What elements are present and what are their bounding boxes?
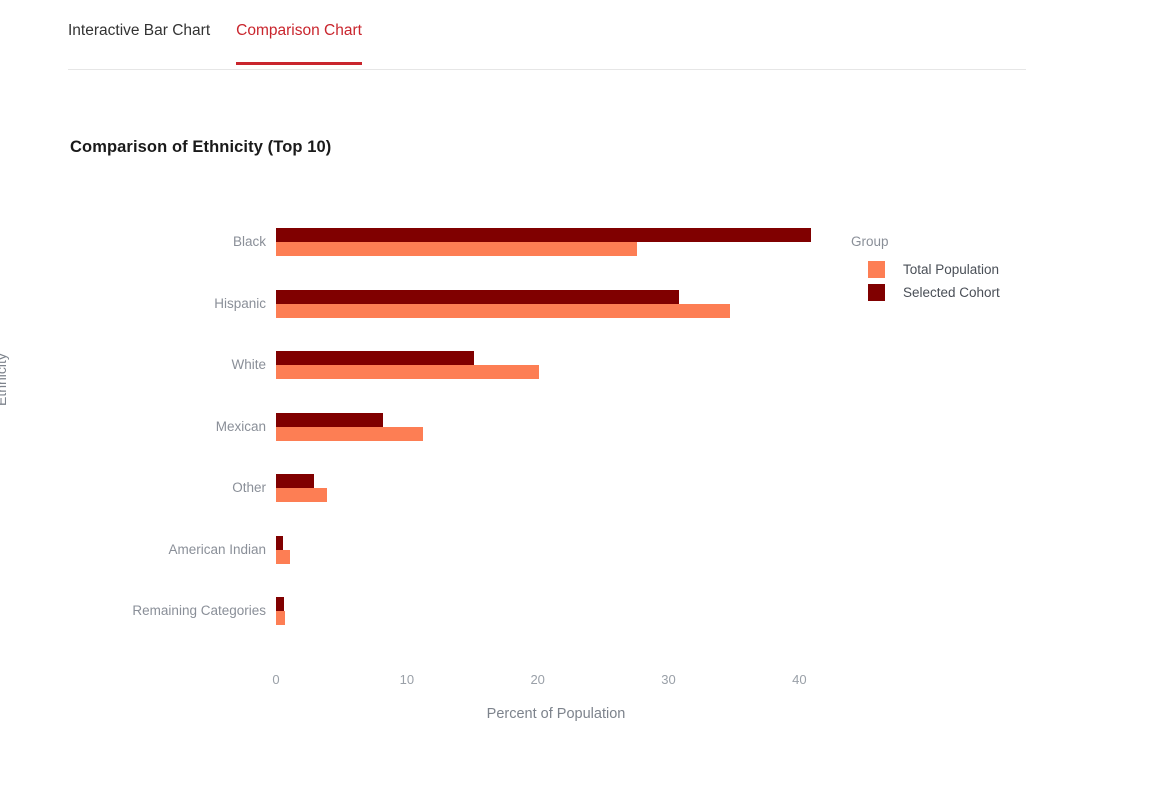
bar-total-population[interactable]	[276, 611, 285, 625]
legend-label-total-population: Total Population	[903, 262, 999, 277]
bar-total-population[interactable]	[276, 304, 730, 318]
x-axis-tick-label: 0	[272, 672, 279, 687]
bar-total-population[interactable]	[276, 427, 423, 441]
y-axis-tick-label: American Indian	[66, 542, 266, 557]
plot-area	[276, 228, 836, 656]
x-axis-tick-label: 20	[530, 672, 544, 687]
legend-swatch-total-population	[868, 261, 885, 278]
legend-title: Group	[851, 234, 1051, 249]
bar-selected-cohort[interactable]	[276, 351, 474, 365]
y-axis-title: Ethnicity	[0, 286, 9, 406]
legend-item-selected-cohort[interactable]: Selected Cohort	[851, 284, 1051, 301]
bar-total-population[interactable]	[276, 488, 327, 502]
bar-group	[276, 474, 836, 502]
legend-item-total-population[interactable]: Total Population	[851, 261, 1051, 278]
bar-selected-cohort[interactable]	[276, 290, 679, 304]
bar-total-population[interactable]	[276, 242, 637, 256]
bar-group	[276, 597, 836, 625]
bar-selected-cohort[interactable]	[276, 228, 811, 242]
bar-group	[276, 290, 836, 318]
bar-group	[276, 228, 836, 256]
x-axis-tick-label: 40	[792, 672, 806, 687]
y-axis-tick-label: Hispanic	[66, 296, 266, 311]
y-axis-tick-label: White	[66, 357, 266, 372]
legend-swatch-selected-cohort	[868, 284, 885, 301]
bar-selected-cohort[interactable]	[276, 597, 284, 611]
legend-label-selected-cohort: Selected Cohort	[903, 285, 1000, 300]
comparison-chart: Ethnicity BlackHispanicWhiteMexicanOther…	[0, 0, 1157, 789]
y-axis-tick-labels: BlackHispanicWhiteMexicanOtherAmerican I…	[66, 228, 266, 656]
y-axis-tick-label: Other	[66, 480, 266, 495]
y-axis-tick-label: Black	[66, 234, 266, 249]
y-axis-tick-label: Mexican	[66, 419, 266, 434]
x-axis-tick-labels: 010203040	[276, 672, 836, 692]
bar-selected-cohort[interactable]	[276, 536, 283, 550]
x-axis-tick-label: 10	[400, 672, 414, 687]
bar-group	[276, 536, 836, 564]
bar-total-population[interactable]	[276, 365, 539, 379]
legend: Group Total Population Selected Cohort	[851, 234, 1051, 307]
x-axis-tick-label: 30	[661, 672, 675, 687]
bar-selected-cohort[interactable]	[276, 413, 383, 427]
bar-group	[276, 413, 836, 441]
y-axis-tick-label: Remaining Categories	[66, 603, 266, 618]
bar-total-population[interactable]	[276, 550, 290, 564]
bar-group	[276, 351, 836, 379]
x-axis-title: Percent of Population	[276, 706, 836, 722]
bar-selected-cohort[interactable]	[276, 474, 314, 488]
